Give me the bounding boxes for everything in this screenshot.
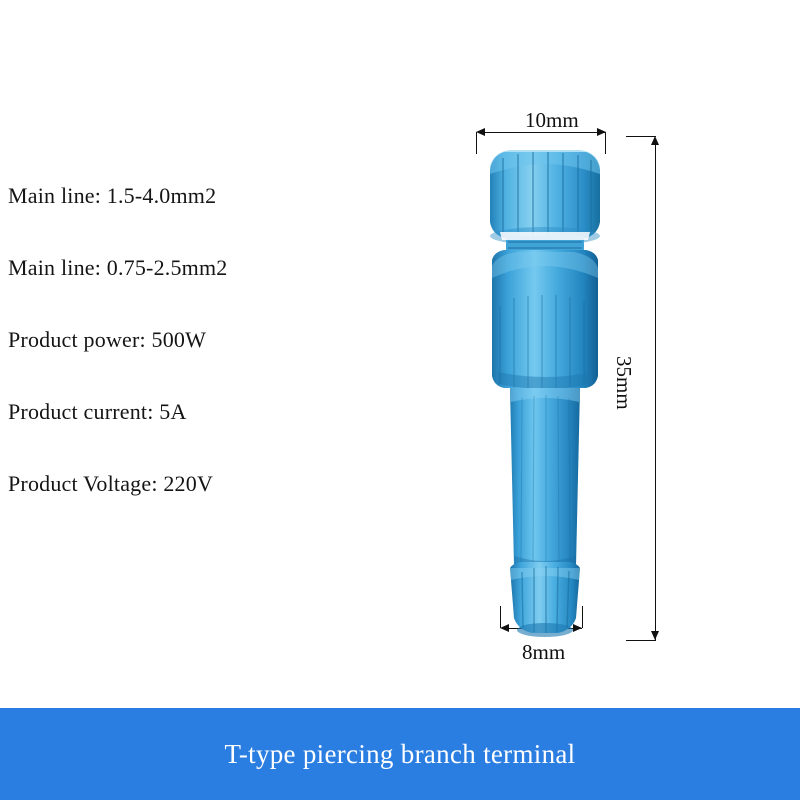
connector-lower-barrel bbox=[510, 388, 580, 573]
dimension-height-tick-bottom bbox=[626, 640, 656, 641]
dimension-top-line bbox=[485, 132, 606, 133]
product-image-area: 10mm 8mm 35mm bbox=[440, 100, 740, 680]
spec-item-main-line-2: Main line: 0.75-2.5mm2 bbox=[8, 232, 338, 304]
connector-svg bbox=[470, 136, 620, 651]
connector-bottom-cap bbox=[510, 562, 580, 637]
dimension-height-line bbox=[655, 145, 656, 640]
spec-item-product-voltage: Product Voltage: 220V bbox=[8, 448, 338, 520]
dimension-height-arrow-bottom bbox=[651, 631, 659, 640]
spec-text: Main line: 1.5-4.0mm2 bbox=[8, 183, 216, 209]
spec-text: Product Voltage: 220V bbox=[8, 471, 213, 497]
dimension-height-tick-top bbox=[626, 136, 656, 137]
bottom-banner: T-type piercing branch terminal bbox=[0, 708, 800, 800]
spec-item-product-current: Product current: 5A bbox=[8, 376, 338, 448]
banner-title: T-type piercing branch terminal bbox=[225, 739, 576, 770]
spec-item-product-power: Product power: 500W bbox=[8, 304, 338, 376]
spec-text: Product power: 500W bbox=[8, 327, 206, 353]
connector-top-cap bbox=[490, 150, 600, 245]
specification-list: Main line: 1.5-4.0mm2 Main line: 0.75-2.… bbox=[8, 160, 338, 520]
spec-item-main-line-1: Main line: 1.5-4.0mm2 bbox=[8, 160, 338, 232]
spec-text: Product current: 5A bbox=[8, 399, 187, 425]
spec-text: Main line: 0.75-2.5mm2 bbox=[8, 255, 228, 281]
dimension-top-arrow-left bbox=[476, 128, 485, 136]
connector-illustration bbox=[470, 136, 620, 651]
product-info-page: Main line: 1.5-4.0mm2 Main line: 0.75-2.… bbox=[0, 0, 800, 800]
connector-middle-body bbox=[492, 250, 598, 389]
dimension-height-arrow-top bbox=[651, 136, 659, 145]
dimension-top-width-label: 10mm bbox=[525, 108, 579, 133]
